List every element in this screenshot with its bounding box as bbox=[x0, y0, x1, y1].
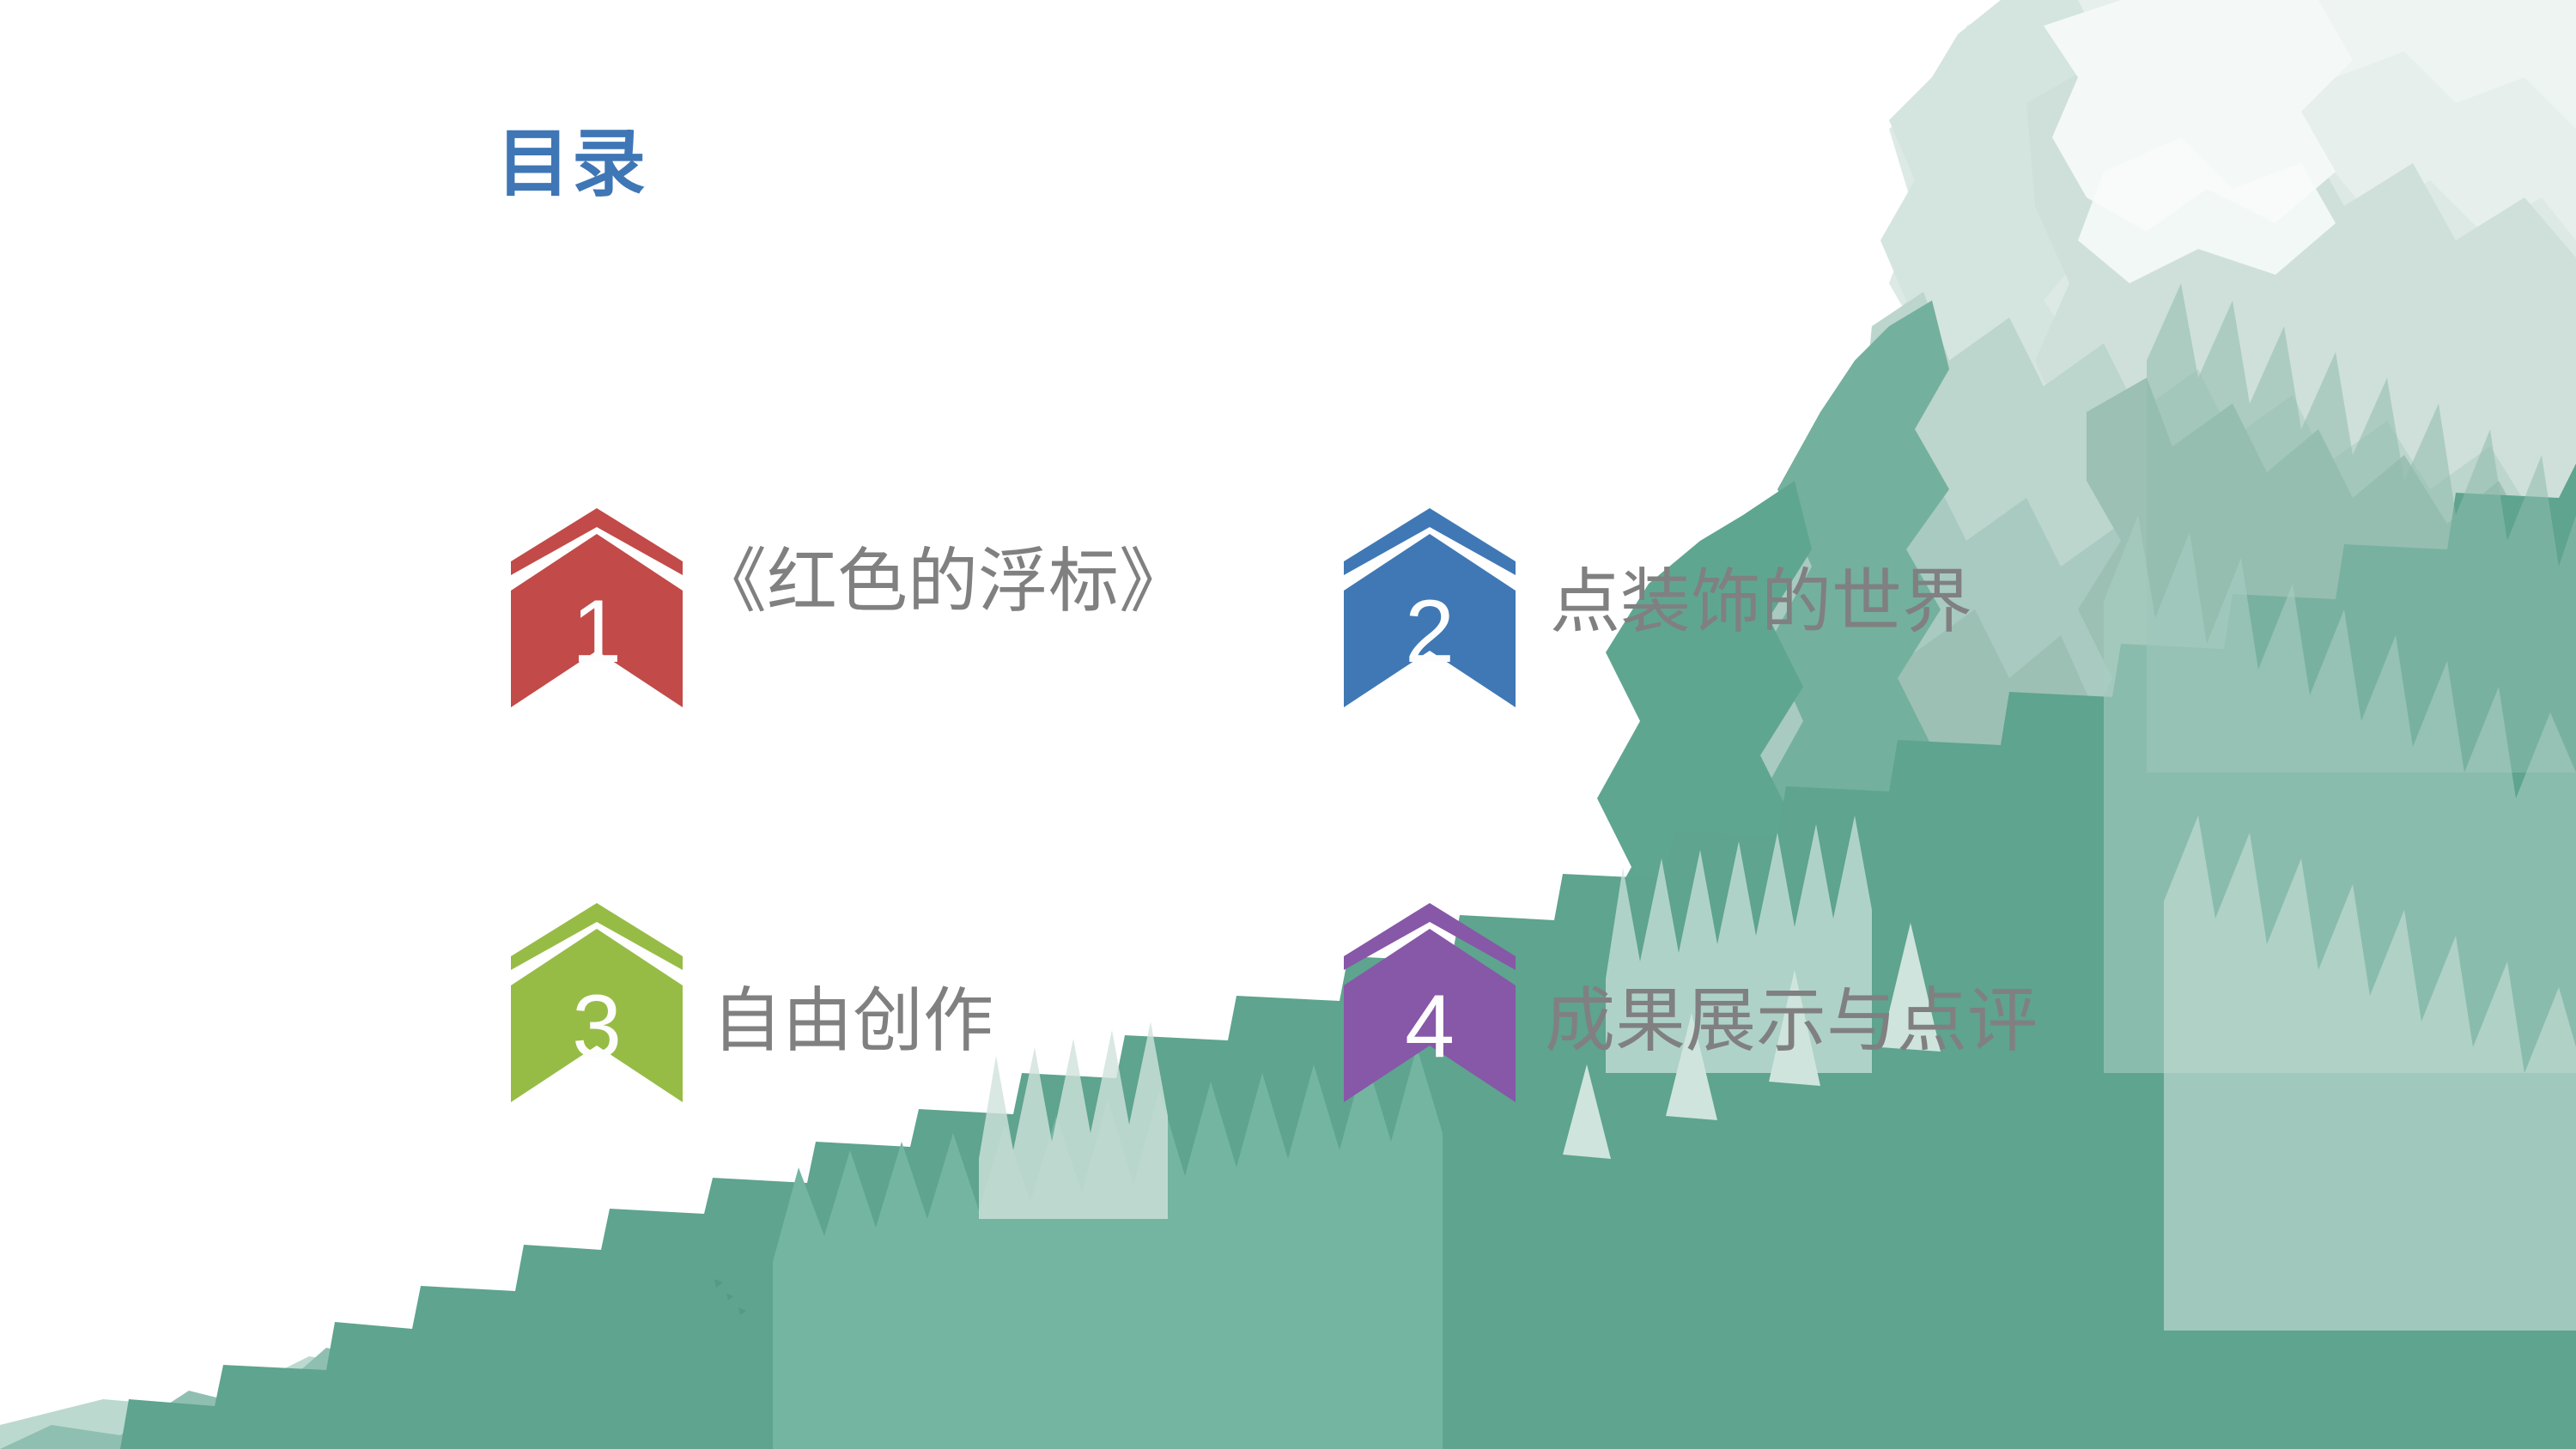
chevron-badge-icon: 2 bbox=[1344, 508, 1516, 707]
toc-item-1[interactable]: 1 《红色的浮标》 bbox=[511, 508, 1229, 707]
toc-item-3[interactable]: 3 自由创作 bbox=[511, 903, 1244, 1102]
table-of-contents: 1 《红色的浮标》 2 点装饰的世界 3 bbox=[0, 0, 2576, 1449]
chevron-badge-icon: 3 bbox=[511, 903, 683, 1102]
slide-canvas: 目录 1 《红色的浮标》 2 点装饰的世界 bbox=[0, 0, 2576, 1449]
toc-item-number: 4 bbox=[1344, 982, 1516, 1071]
toc-item-number: 1 bbox=[511, 587, 683, 676]
chevron-badge-icon: 4 bbox=[1344, 903, 1516, 1102]
toc-item-label: 《红色的浮标》 bbox=[696, 508, 1229, 624]
toc-item-2[interactable]: 2 点装饰的世界 bbox=[1344, 508, 2185, 707]
toc-item-number: 2 bbox=[1344, 587, 1516, 676]
toc-item-label: 点装饰的世界 bbox=[1550, 508, 2185, 645]
toc-item-4[interactable]: 4 成果展示与点评 bbox=[1344, 903, 2215, 1102]
toc-item-label: 成果展示与点评 bbox=[1545, 903, 2215, 1064]
toc-item-label: 自由创作 bbox=[712, 903, 1244, 1064]
toc-item-number: 3 bbox=[511, 982, 683, 1071]
chevron-badge-icon: 1 bbox=[511, 508, 683, 707]
page-title: 目录 bbox=[496, 127, 647, 201]
